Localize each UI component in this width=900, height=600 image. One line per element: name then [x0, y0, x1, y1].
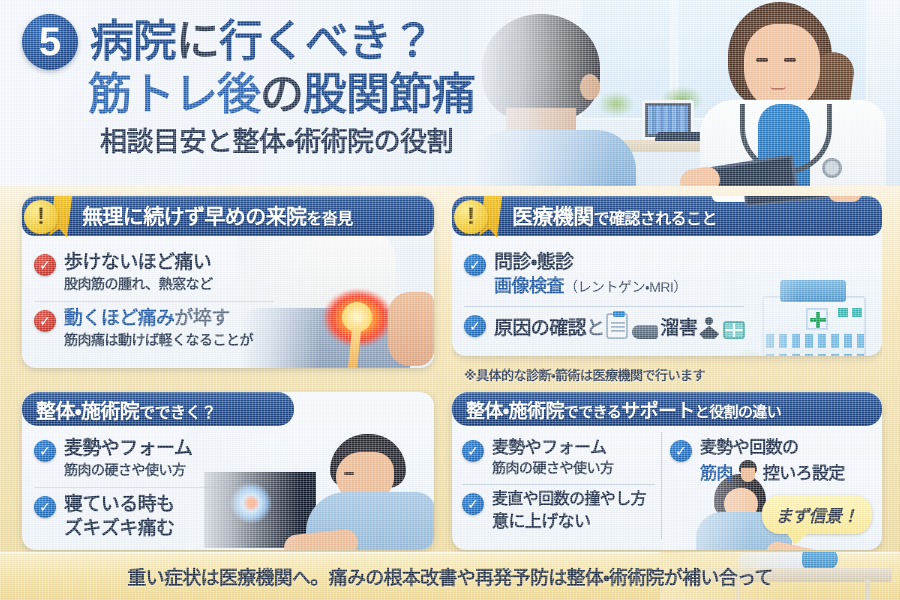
check-icon: ✓ — [34, 496, 56, 518]
card3-body: ✓ 麦勢やフォーム 筋肉の硬さや使い方 ✓ 寝ている時も ズキズキ痛む — [22, 426, 434, 548]
card3-bullet-list: ✓ 麦勢やフォーム 筋肉の硬さや使い方 ✓ 寝ている時も ズキズキ痛む — [34, 432, 242, 547]
list-item: ✓ 寝ている時も ズキズキ痛む — [34, 487, 242, 548]
card1-body: ✓ 歩けないほど痛い 股肉筋の腫れ、熱窓など ✓ 動くほど痛みが埣す 筋肉痛は動… — [22, 236, 434, 368]
card4-left-bullet-list: ✓ 麦勢やフォーム 筋肉の硬さや使い方 ✓ 麦直や回数の撞やし方 意に上げない — [462, 432, 655, 539]
check-icon: ✓ — [34, 254, 56, 276]
title-line-1: 病院に行くべき？ — [90, 20, 434, 64]
clinic-desk — [620, 140, 830, 152]
step-number-badge: 5 — [22, 14, 78, 70]
card2-header-text: 医療機関で確認されること — [512, 201, 717, 231]
bullet-main: 動くほど痛みが埣す — [64, 308, 253, 330]
check-icon: ✓ — [464, 315, 486, 337]
person-icon — [699, 317, 719, 339]
title-l2-part-b: の — [260, 70, 303, 119]
card4-head-main-b: サポート — [621, 401, 695, 422]
card1-head-main: 無理に続けず — [82, 206, 204, 229]
bullet-sub-row: 筋肉控いろ設定 — [700, 460, 845, 484]
bullet-sub: 筋肉の硬さや使い方 — [492, 459, 614, 477]
card3-header-text: 整体・施術院でできく？ — [22, 395, 216, 424]
bullet-main-highlight: 動くほど痛み — [64, 308, 174, 329]
bullet-sub: 意に上げない — [492, 512, 646, 532]
shoe-icon — [632, 325, 658, 339]
medical-cross-icon — [806, 308, 828, 330]
bullet-main: 原因の確認と溜害 — [494, 313, 744, 340]
check-icon: ✓ — [670, 440, 692, 462]
bullet-main-a: 原因の確認 — [494, 318, 586, 339]
check-icon: ✓ — [34, 440, 56, 462]
hero-photo-consultation — [470, 0, 900, 190]
bullet-sub: 筋肉の硬さや使い方 — [64, 461, 192, 479]
window-pane — [676, 0, 768, 120]
card1-head-small: を沓見 — [306, 211, 352, 228]
bullet-main-after: 溜害 — [660, 318, 697, 339]
doctor-figure — [682, 0, 892, 190]
patient-figure — [470, 8, 642, 190]
tablet-icon — [690, 154, 798, 190]
bullet-sub: 筋肉痛は動けば軽くなることが — [64, 331, 253, 349]
card4-left-column: ✓ 麦勢やフォーム 筋肉の硬さや使い方 ✓ 麦直や回数の撞やし方 意に上げない — [462, 432, 662, 539]
card4-head-small-b: と役割の違い — [695, 404, 781, 421]
bullet-main-tail: と — [586, 318, 604, 339]
bullet-sub-paren: （レントゲン・MRI） — [564, 279, 687, 295]
card4-header-text: 整体・施術院でできるサポートと役割の違い — [452, 396, 781, 423]
card1-header: ! 無理に続けず早めの来院を沓見 — [22, 196, 434, 236]
infographic-poster: 5 病院に行くべき？ 筋トレ後の股関節痛 相談目安と整体・術術院の役割 ! 無理… — [0, 0, 900, 600]
card2-note: ※具体的な診断・箭術は医療機関で行います — [464, 365, 705, 384]
warning-exclamation-icon: ! — [22, 196, 80, 236]
clipboard-icon — [606, 313, 628, 339]
list-item: ✓ 麦勢やフォーム 筋肉の硬さや使い方 — [34, 432, 242, 487]
hero-subtitle: 相談目安と整体・術術院の役割 — [100, 129, 475, 156]
card3-head-small: でできく？ — [139, 405, 216, 422]
card1-head-small-pre: 早めの来院 — [204, 206, 306, 229]
title-l2-part-a: 筋トレ後 — [88, 70, 260, 119]
check-icon: ✓ — [462, 493, 484, 515]
medical-device-icon — [706, 108, 752, 142]
bullet-sub: 股肉筋の腫れ、熱窓など — [64, 275, 213, 293]
bullet-sub-highlight: 筋肉 — [700, 464, 733, 483]
skeleton-model-icon — [522, 34, 556, 162]
title-l1-part-b: に — [176, 17, 219, 66]
list-item: ✓ 麦勢やフォーム 筋肉の硬さや使い方 — [462, 432, 655, 484]
pill-icon — [723, 321, 745, 339]
card4-head-small-a: でできる — [564, 404, 621, 421]
monitor-icon — [642, 100, 694, 140]
card4-header: 整体・施術院でできるサポートと役割の違い — [452, 392, 882, 426]
title-l1-part-a: 病院 — [90, 17, 176, 66]
list-item: ✓ 麦直や回数の撞やし方 意に上げない — [462, 484, 655, 539]
title-line-2: 筋トレ後の股関節痛 — [88, 70, 475, 119]
bullet-sub-tail: 控いろ設定 — [763, 464, 845, 483]
bullet-main: 麦勢や回数の — [700, 438, 845, 458]
card2-head-small: で確認されること — [594, 211, 717, 228]
pain-glow-indicator — [312, 280, 404, 356]
card3-head-main: 整体・施術院 — [36, 401, 139, 423]
card-early-visit: ! 無理に続けず早めの来院を沓見 ✓ 歩けないほど痛い 股肉筋の腫れ、熱窓など — [22, 196, 434, 368]
footer-banner: 重い症状は医療機関へ。痛みの根本改書や再発予防は整体・術術院が補い合って — [0, 552, 900, 600]
list-item: ✓ 問診・態診 画像検査（レントゲン・MRI） — [464, 246, 744, 306]
head-icon — [735, 460, 761, 484]
bullet-main: 麦勢やフォーム — [64, 438, 192, 460]
check-icon: ✓ — [462, 440, 484, 462]
footer-text: 重い症状は医療機関へ。痛みの根本改書や再発予防は整体・術術院が補い合って — [127, 563, 772, 590]
list-item: ✓ 歩けないほど痛い 股肉筋の腫れ、熱窓など — [34, 246, 274, 301]
card4-right-bullet-list: ✓ 麦勢や回数の 筋肉控いろ設定 — [670, 432, 872, 491]
doctor-hand-tablet-overlay — [712, 196, 862, 206]
greenery-outside-window — [586, 74, 868, 122]
warning-exclamation-icon: ! — [452, 196, 510, 236]
card4-body: ✓ 麦勢やフォーム 筋肉の硬さや使い方 ✓ 麦直や回数の撞やし方 意に上げない — [452, 426, 882, 550]
title-line-1-row: 5 病院に行くべき？ — [22, 14, 475, 70]
bullet-sub-highlight: 画像検査 — [494, 276, 564, 296]
check-icon: ✓ — [34, 310, 56, 332]
bullet-main: 麦勢やフォーム — [492, 438, 614, 458]
card2-body: ✓ 問診・態診 画像検査（レントゲン・MRI） ✓ 原因の確認と溜害 — [452, 236, 882, 356]
window-pane — [580, 0, 672, 120]
card2-bullet-list: ✓ 問診・態診 画像検査（レントゲン・MRI） ✓ 原因の確認と溜害 — [464, 246, 744, 347]
bullet-main: 麦直や回数の撞やし方 — [492, 491, 646, 510]
card1-bullet-list: ✓ 歩けないほど痛い 股肉筋の腫れ、熱窓など ✓ 動くほど痛みが埣す 筋肉痛は動… — [34, 246, 274, 356]
tablet-on-desk — [654, 132, 712, 141]
card4-head-main: 整体・施術院 — [466, 401, 564, 422]
card-clinic-capabilities: 整体・施術院でできく？ ✓ 麦勢やフォーム 筋肉の硬さや使い方 — [22, 392, 434, 550]
bullet-sub-strong: ズキズキ痛む — [64, 518, 174, 540]
card2-photo-hospital — [722, 270, 882, 356]
callout-bubble: まず信景！ — [762, 495, 873, 534]
list-item: ✓ 麦勢や回数の 筋肉控いろ設定 — [670, 432, 872, 491]
bullet-main: 寝ている時も — [64, 494, 174, 516]
skeleton-display-case — [506, 18, 568, 168]
list-item: ✓ 動くほど痛みが埣す 筋肉痛は動けば軽くなることが — [34, 301, 274, 357]
title-l2-part-c: 股関節痛 — [303, 70, 475, 119]
card2-head-main: 医療機関 — [512, 206, 594, 229]
hospital-building-icon — [762, 296, 866, 356]
card-support-and-roles: 整体・施術院でできるサポートと役割の違い ✓ 麦勢やフォーム 筋肉の硬さや使い方 — [452, 392, 882, 550]
list-item: ✓ 原因の確認と溜害 — [464, 306, 744, 347]
bullet-main: 歩けないほど痛い — [64, 252, 213, 274]
hero-section: 5 病院に行くべき？ 筋トレ後の股関節痛 相談目安と整体・術術院の役割 — [0, 0, 900, 190]
card3-header: 整体・施術院でできく？ — [22, 392, 294, 426]
window-pane — [772, 0, 868, 120]
bullet-main-tail: が埣す — [174, 308, 229, 329]
hero-text-block: 5 病院に行くべき？ 筋トレ後の股関節痛 相談目安と整体・術術院の役割 — [22, 14, 475, 156]
card1-header-text: 無理に続けず早めの来院を沓見 — [82, 201, 353, 231]
card2-inner: ! 医療機関で確認されること ✓ 問診・態診 — [452, 196, 882, 356]
stethoscope-icon — [822, 158, 842, 178]
check-icon: ✓ — [464, 254, 486, 276]
card-medical-checks: ! 医療機関で確認されること ✓ 問診・態診 — [452, 196, 882, 386]
bullet-sub: 画像検査（レントゲン・MRI） — [494, 275, 687, 298]
bullet-main: 問診・態診 — [494, 252, 687, 274]
title-l1-part-c: 行くべき？ — [219, 17, 434, 66]
